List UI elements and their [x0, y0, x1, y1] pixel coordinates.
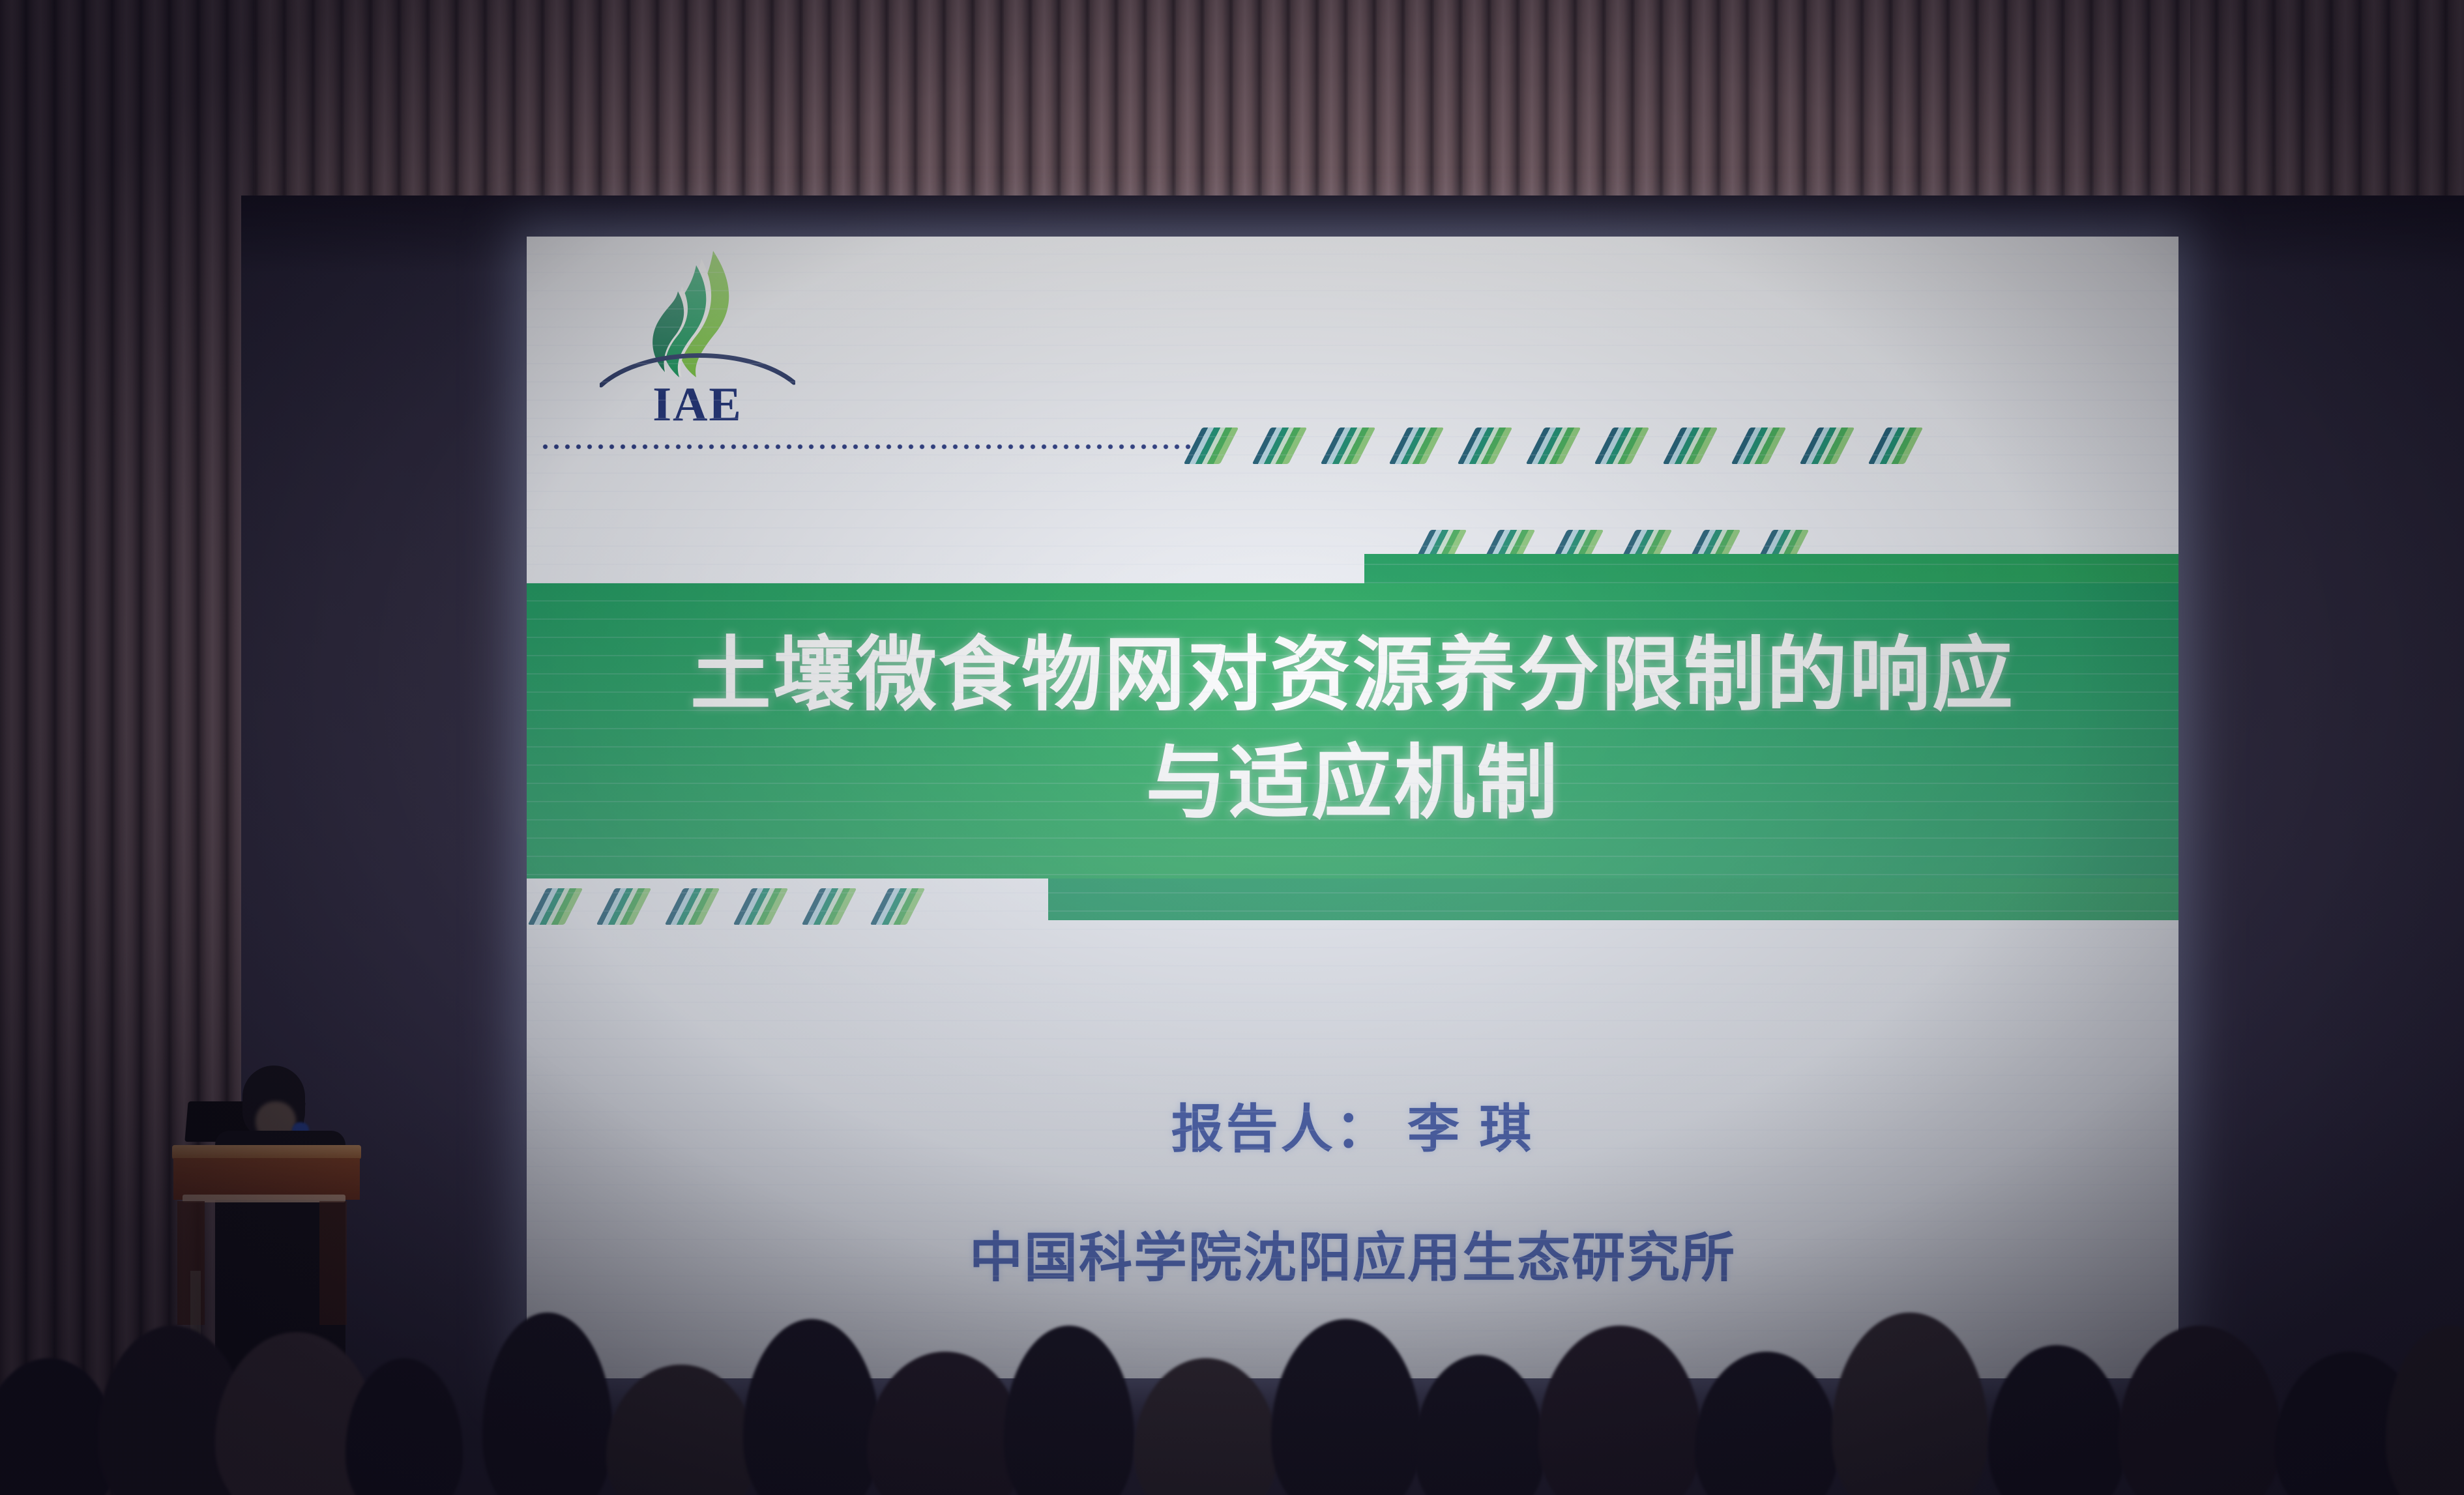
projected-slide: IAE: [527, 237, 2178, 1378]
presenter-name: 报告人： 李 琪: [527, 1087, 2178, 1163]
stripe-row-bottom: [537, 888, 948, 925]
stripe-motif: [665, 888, 720, 925]
stripe-motif: [870, 888, 926, 925]
stripe-motif: [596, 888, 652, 925]
stripe-motif: [733, 888, 789, 925]
stripe-motif: [1526, 428, 1581, 464]
slide-title-line-2: 与适应机制: [527, 729, 2178, 837]
stripe-motif: [1594, 428, 1650, 464]
affiliation-name: 中国科学院沈阳应用生态研究所: [527, 1214, 2178, 1292]
slide-title-line-1: 土壤微食物网对资源养分限制的响应: [527, 621, 2178, 729]
dotted-divider: [540, 444, 1192, 450]
stripe-motif: [1458, 428, 1513, 464]
stripe-motif: [1800, 428, 1855, 464]
lectern-top: [172, 1145, 361, 1159]
conference-hall-photo: IAE: [0, 0, 2464, 1495]
stripe-motif: [1389, 428, 1445, 464]
slide-title: 土壤微食物网对资源养分限制的响应 与适应机制: [527, 621, 2178, 837]
stripe-motif: [1252, 428, 1308, 464]
lectern-front: [173, 1158, 360, 1200]
stripe-motif: [1321, 428, 1376, 464]
lectern-base-right: [319, 1201, 347, 1325]
stripe-motif: [1184, 428, 1239, 464]
title-band-notch-right: [1364, 554, 2178, 583]
lectern-leg: [190, 1271, 201, 1486]
stripe-motif: [1868, 428, 1924, 464]
title-band-notch-left: [527, 554, 1387, 583]
stripe-row-top: [1193, 428, 1946, 464]
stripe-motif: [1663, 428, 1718, 464]
iae-logo: IAE: [600, 248, 795, 431]
logo-acronym: IAE: [600, 377, 795, 433]
title-band-step-right: [1048, 878, 2178, 920]
stripe-motif: [1731, 428, 1787, 464]
stripe-motif: [802, 888, 857, 925]
